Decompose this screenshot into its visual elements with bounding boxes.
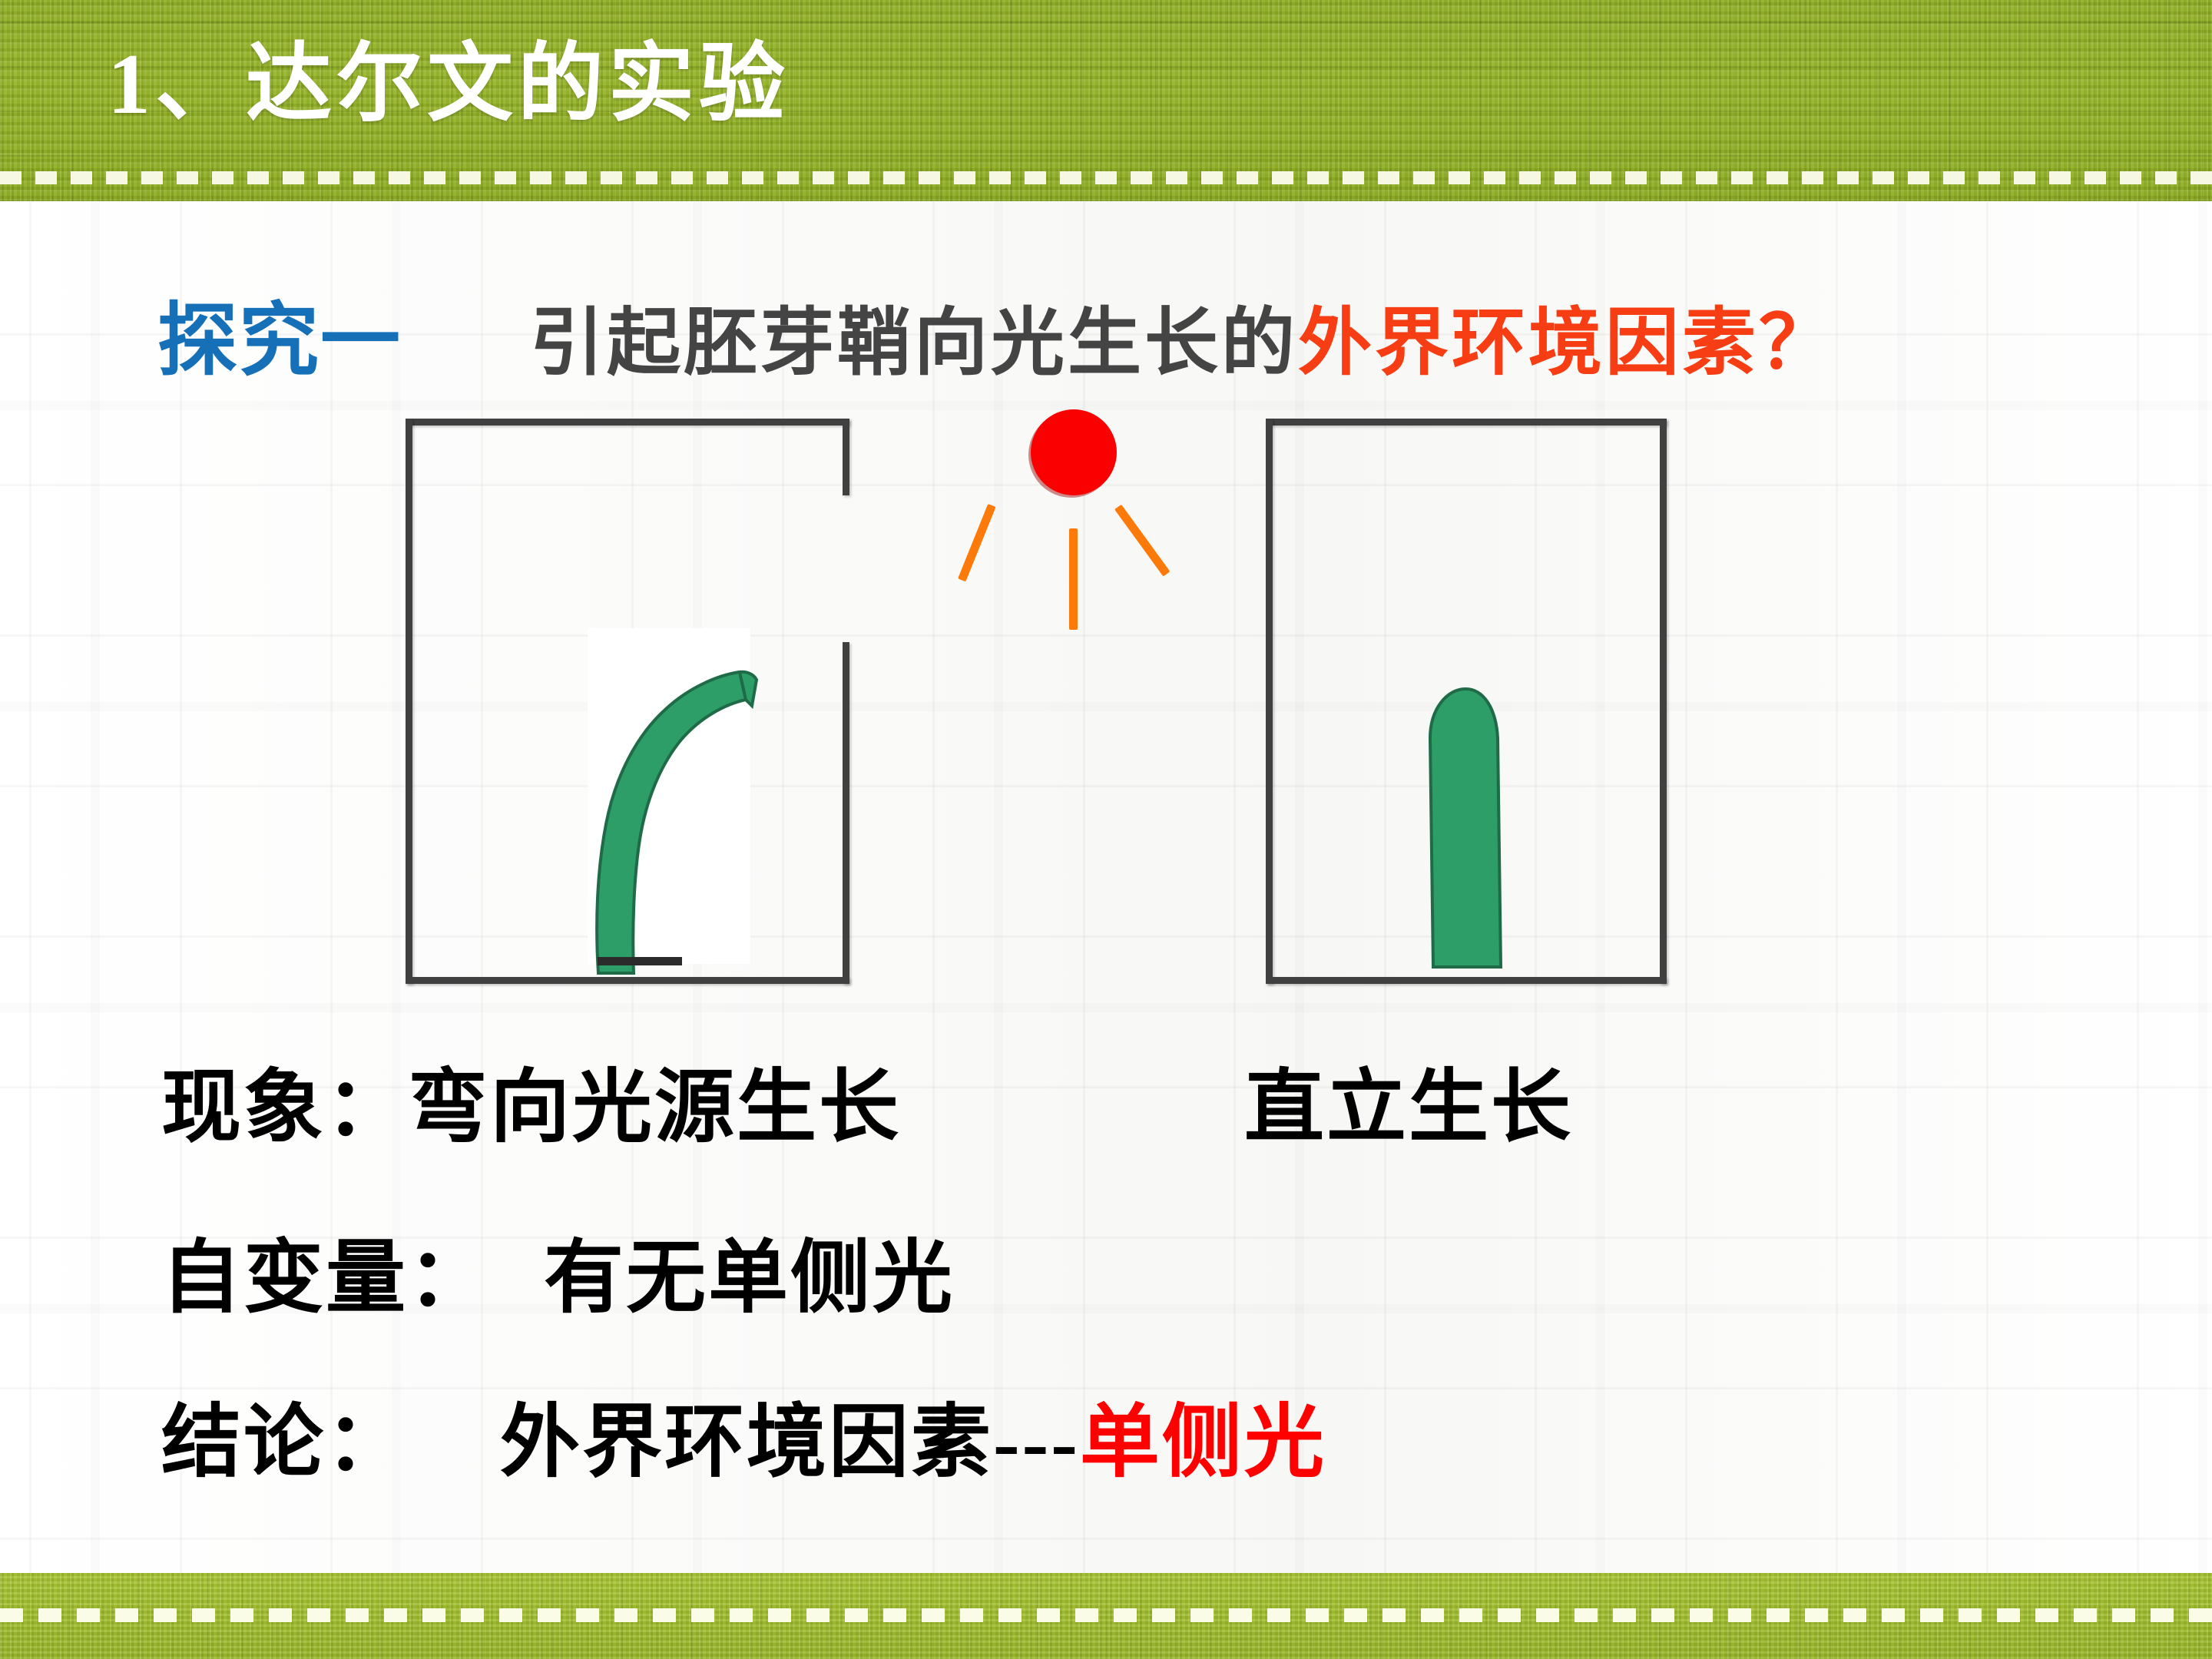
variable-row: 自变量：有无单侧光 [161,1212,955,1328]
banner-dashed-divider [0,171,2212,184]
conclusion-highlight: 单侧光 [1080,1399,1326,1487]
conclusion-label: 结论： [161,1399,408,1487]
phenomenon-label: 现象： [161,1064,408,1152]
variable-label: 自变量： [161,1234,490,1323]
page-title: 1、达尔文的实验 [108,14,790,138]
phenomenon-right-value: 直立生长 [1244,1041,1573,1157]
variable-value: 有无单侧光 [544,1234,955,1323]
bottom-dashed-divider [0,1608,2212,1622]
slide-canvas: 1、达尔文的实验 探究一 引起胚芽鞘向光生长的外界环境因素？ [0,0,2212,1659]
conclusion-value: 外界环境因素--- [500,1399,1080,1487]
phenomenon-left-value: 弯向光源生长 [408,1064,901,1152]
probe-heading: 探究一 [157,275,402,391]
question-line: 引起胚芽鞘向光生长的外界环境因素？ [530,283,1836,389]
bottom-banner [0,1573,2212,1659]
question-text-normal: 引起胚芽鞘向光生长的 [530,302,1298,384]
question-text-highlight: 外界环境因素？ [1298,302,1836,384]
phenomenon-left-row: 现象：弯向光源生长 [161,1041,901,1157]
conclusion-row: 结论：外界环境因素---单侧光 [161,1376,1326,1492]
